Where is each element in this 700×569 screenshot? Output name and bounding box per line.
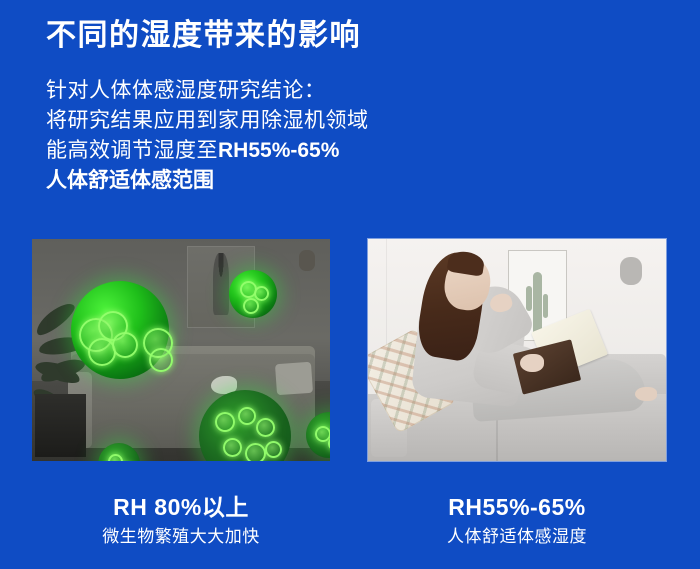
microbe-large-icon [71,281,169,379]
wall-speaker-light [620,257,642,285]
body-copy: 针对人体体感湿度研究结论： 将研究结果应用到家用除湿机领域 能高效调节湿度至RH… [46,76,476,196]
photo-comfort-humidity [368,239,666,461]
photo-high-humidity [32,239,330,461]
cactus-artwork-icon [533,272,542,334]
person-foot [635,387,657,401]
person-hand-on-book [520,354,544,372]
caption-sub-high: 微生物繁殖大大加快 [32,524,330,550]
caption-title-high: RH 80%以上 [32,492,330,522]
body-line-1: 针对人体体感湿度研究结论： [46,76,476,106]
body-line-3-regular: 能高效调节湿度至 [46,139,218,162]
scene-dark-room [32,239,330,461]
body-line-3: 能高效调节湿度至RH55%-65% [46,136,476,166]
photo-row [0,239,700,461]
body-line-2: 将研究结果应用到家用除湿机领域 [46,106,476,136]
plant-pot-dark [35,394,86,456]
scene-light-room [368,239,666,461]
body-line-3-highlight: RH55%-65% [218,139,339,162]
caption-sub-comfort: 人体舒适体感湿度 [368,524,666,550]
microbe-small-top-icon [229,270,277,318]
body-line-4: 人体舒适体感范围 [46,166,476,196]
caption-title-comfort: RH55%-65% [368,492,666,522]
caption-comfort-humidity: RH55%-65% 人体舒适体感湿度 [368,492,666,550]
caption-row: RH 80%以上 微生物繁殖大大加快 RH55%-65% 人体舒适体感湿度 [0,492,700,569]
wall-speaker-dark [299,250,315,271]
page-title: 不同的湿度带来的影响 [46,16,361,56]
sofa-cushion-dark [275,362,313,395]
caption-high-humidity: RH 80%以上 微生物繁殖大大加快 [32,492,330,550]
poster-root: 不同的湿度带来的影响 针对人体体感湿度研究结论： 将研究结果应用到家用除湿机领域… [0,0,700,569]
